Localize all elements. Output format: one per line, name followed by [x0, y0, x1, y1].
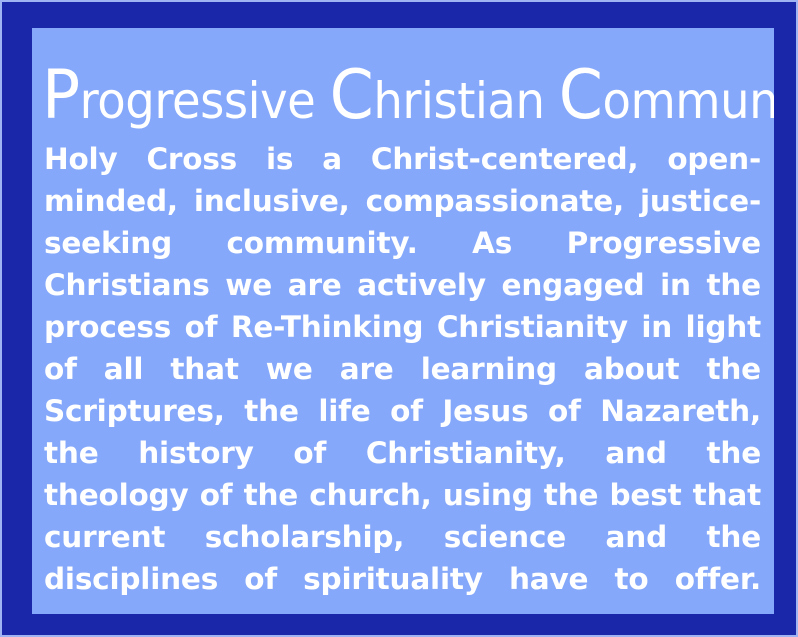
- title-rest-progressive: rogressive: [80, 72, 316, 130]
- title-space-2: [544, 72, 558, 130]
- navy-border-frame: Progressive Christian Community Holy Cro…: [2, 2, 796, 635]
- title-space-1: [315, 72, 329, 130]
- title-cap-c2: C: [559, 56, 603, 135]
- page-title: Progressive Christian Community: [42, 58, 721, 144]
- title-rest-community: ommunity: [602, 72, 774, 130]
- title-cap-c1: C: [330, 56, 374, 135]
- content-panel: Progressive Christian Community Holy Cro…: [32, 28, 774, 614]
- slide-screenshot: Progressive Christian Community Holy Cro…: [0, 0, 798, 637]
- title-rest-christian: hristian: [373, 72, 544, 130]
- mission-statement-paragraph: Holy Cross is a Christ-centered, open-mi…: [44, 138, 761, 614]
- title-cap-p: P: [42, 56, 80, 135]
